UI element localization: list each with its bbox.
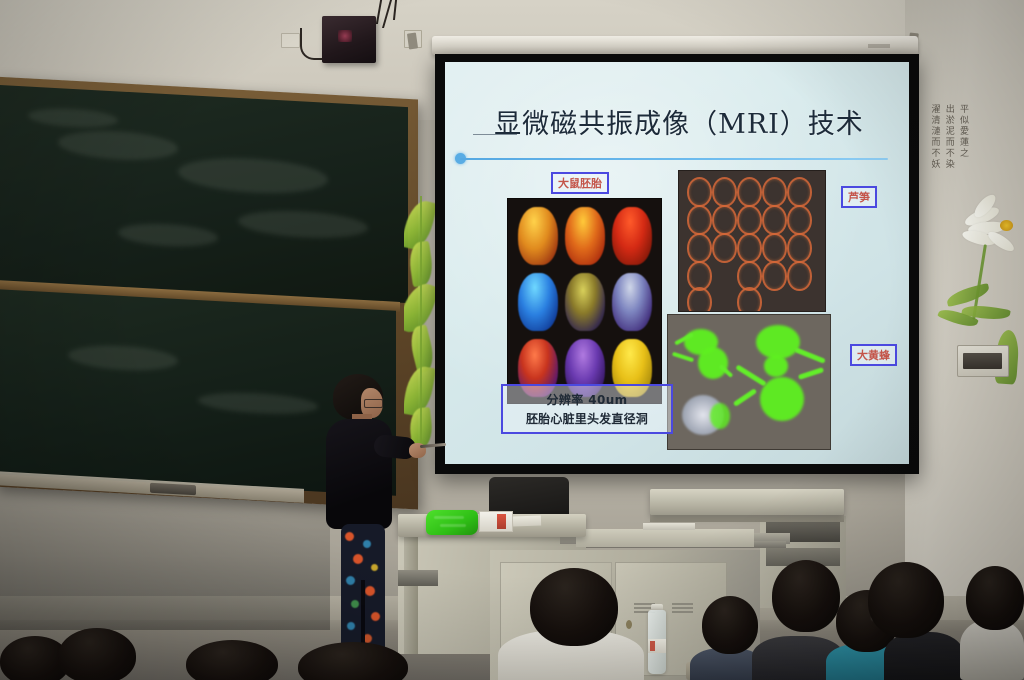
papers-on-desk — [513, 516, 541, 527]
label-hornet: 大黄蜂 — [850, 344, 897, 366]
audience-head — [186, 640, 278, 680]
calligraphy-column-1: 平似愛蓮之 — [957, 104, 968, 236]
lecture-hall-photo: 显微磁共振成像（MRI）技术 大鼠胚胎 — [0, 0, 1024, 680]
wall-socket-icon — [281, 33, 300, 48]
label-asparagus: 芦笋 — [841, 186, 877, 208]
audience-head — [772, 560, 840, 632]
figure-rat-embryo-mri — [507, 198, 662, 404]
title-underline — [473, 134, 517, 135]
papers-on-desk — [643, 523, 695, 530]
caption-line-1: 分辨率 40um — [507, 391, 667, 408]
caption-line-2: 胚胎心脏里头发直径洞 — [507, 410, 667, 427]
label-rat-embryo: 大鼠胚胎 — [551, 172, 609, 194]
roller-brand-mark — [868, 44, 890, 48]
box-stack — [479, 511, 513, 532]
cabinet-knob-icon[interactable] — [626, 620, 632, 629]
wall-calligraphy: 平似愛蓮之 出淤泥而不染 濯清漣而不妖 — [906, 104, 968, 236]
wall-outlet-plate[interactable] — [957, 345, 1009, 377]
leg-separation — [361, 580, 365, 652]
desk-surface-mid — [576, 529, 754, 547]
accent-divider-line — [460, 158, 888, 160]
blackboard-upper-panel — [0, 85, 408, 303]
figure-hornet-mri — [667, 314, 831, 450]
audience-head — [58, 628, 136, 680]
bottle-label-accent — [650, 641, 655, 651]
slide-caption-box: 分辨率 40um 胚胎心脏里头发直径洞 — [501, 384, 673, 434]
audience-head — [966, 566, 1024, 630]
device-led-icon — [338, 30, 352, 42]
audience-shoulders — [884, 632, 964, 680]
projected-slide: 显微磁共振成像（MRI）技术 大鼠胚胎 — [445, 62, 909, 464]
desk-surface-right — [650, 489, 844, 515]
green-cloth — [426, 510, 478, 535]
podium-leg — [404, 536, 418, 654]
calligraphy-column-3: 濯清漣而不妖 — [928, 104, 939, 236]
outlet-slot-icon — [963, 353, 1002, 369]
red-box-accent — [497, 514, 506, 529]
audience-head — [702, 596, 758, 654]
podium-drawer — [398, 570, 438, 586]
figure-asparagus-mri — [678, 170, 826, 312]
screen-roller-housing — [432, 36, 918, 55]
calligraphy-column-2: 出淤泥而不染 — [943, 104, 954, 236]
glasses-icon — [364, 399, 383, 408]
audience-head — [868, 562, 944, 638]
slide-title: 显微磁共振成像（MRI）技术 — [469, 102, 889, 141]
audience-head — [530, 568, 618, 646]
